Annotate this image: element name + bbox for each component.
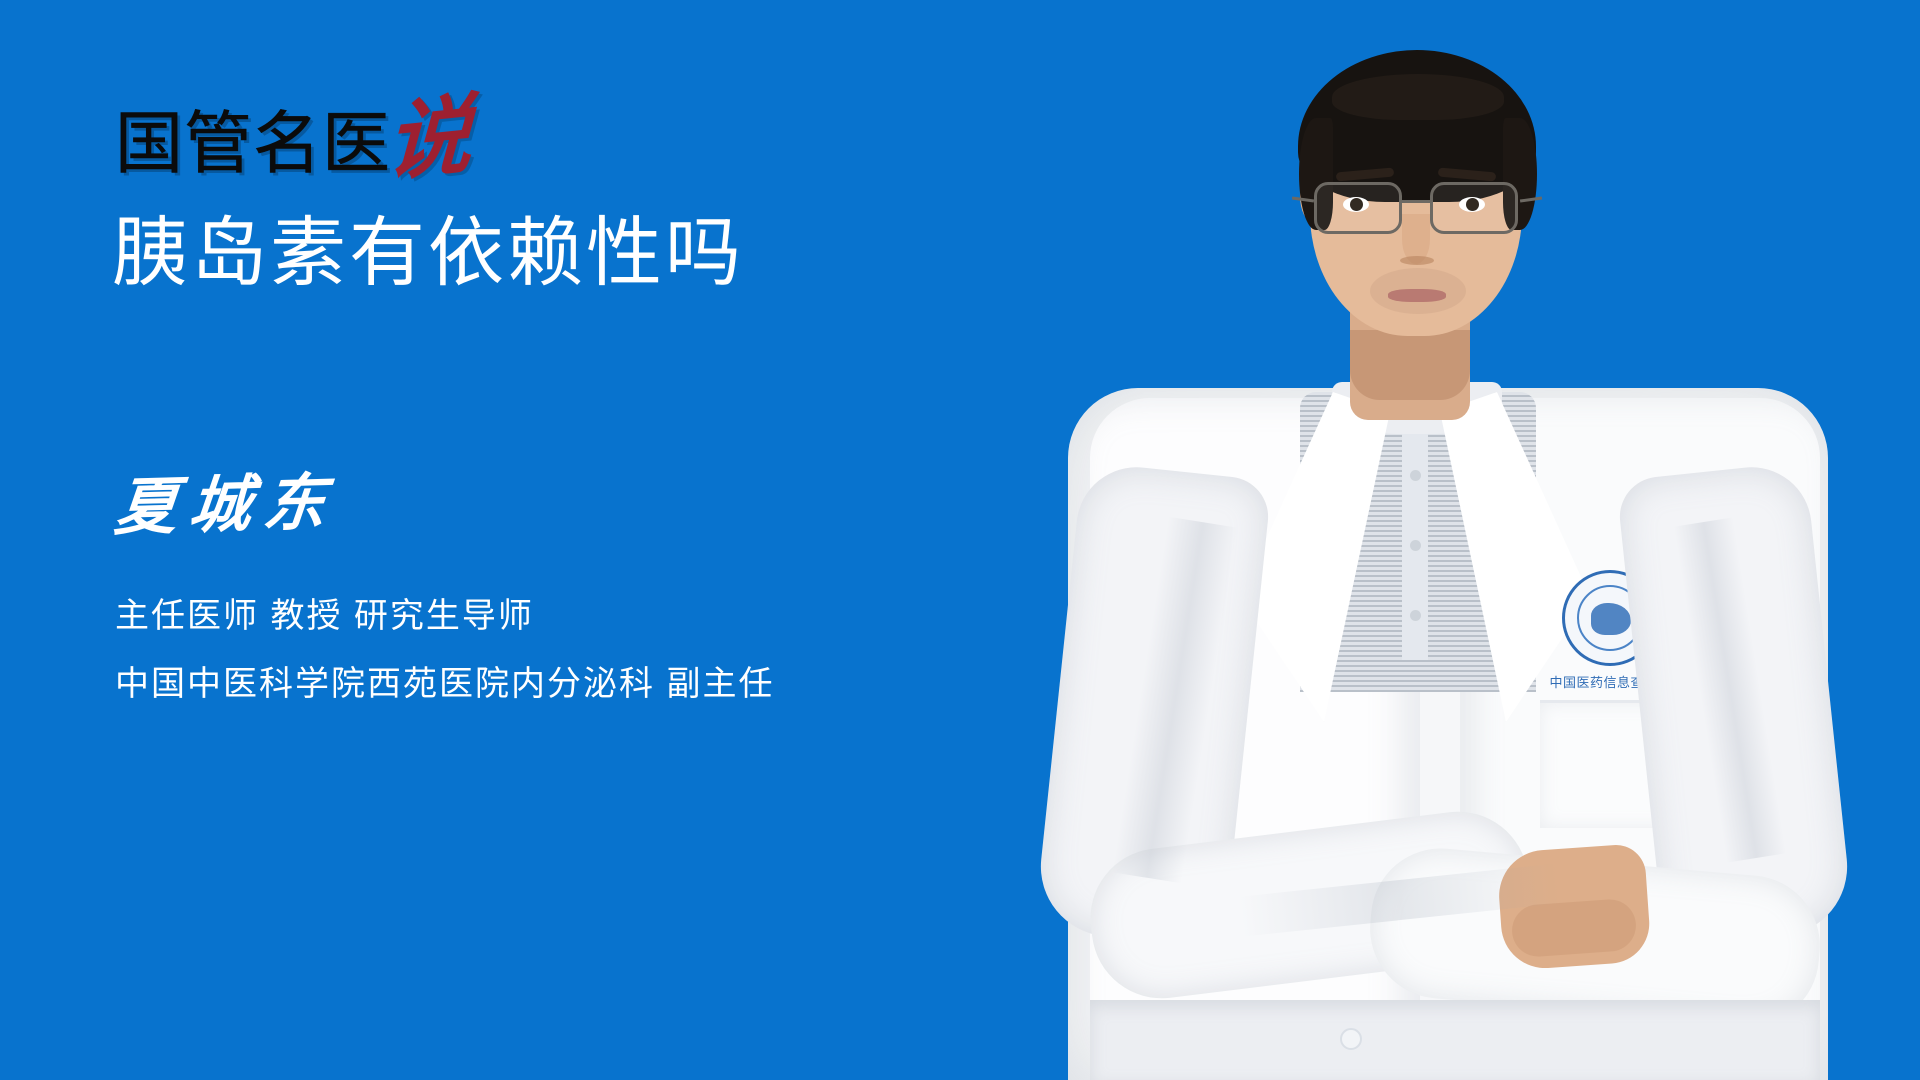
mouth (1388, 289, 1446, 302)
shirt-button (1410, 610, 1421, 621)
doctor-portrait-photo: 中国医药信息查询平台 (940, 0, 1920, 1080)
doctor-credential-line-2: 中国中医科学院西苑医院内分泌科 副主任 (115, 665, 774, 704)
video-cover-stage: 国管名医 说 胰岛素有依赖性吗 夏城东 主任医师 教授 研究生导师 中国中医科学… (0, 0, 1920, 1080)
neck-shadow (1350, 330, 1470, 400)
hand-shadow (1510, 898, 1637, 959)
coat-waist-seam (1090, 1000, 1820, 1080)
doctor-credential-line-1: 主任医师 教授 研究生导师 (115, 597, 534, 636)
eyeglass-lens-left (1314, 182, 1402, 234)
hair-fringe (1332, 74, 1504, 120)
program-logo-main-text: 国管名医 (115, 111, 391, 178)
coat-button (1340, 1028, 1362, 1050)
program-logo-accent-character: 说 (385, 101, 473, 178)
nostrils (1400, 256, 1434, 265)
doctor-name-calligraphy: 夏城东 (112, 472, 341, 540)
hair (1298, 50, 1536, 202)
eyeglass-lens-right (1430, 182, 1518, 234)
text-column: 国管名医 说 胰岛素有依赖性吗 夏城东 主任医师 教授 研究生导师 中国中医科学… (0, 0, 1050, 1080)
program-logo: 国管名医 说 (115, 86, 471, 178)
shirt-button (1410, 470, 1421, 481)
shirt-placket (1402, 400, 1428, 660)
shirt-button (1410, 540, 1421, 551)
episode-title: 胰岛素有依赖性吗 (112, 212, 744, 296)
eyeglass-bridge (1402, 200, 1432, 203)
emblem-map-icon (1591, 603, 1631, 635)
